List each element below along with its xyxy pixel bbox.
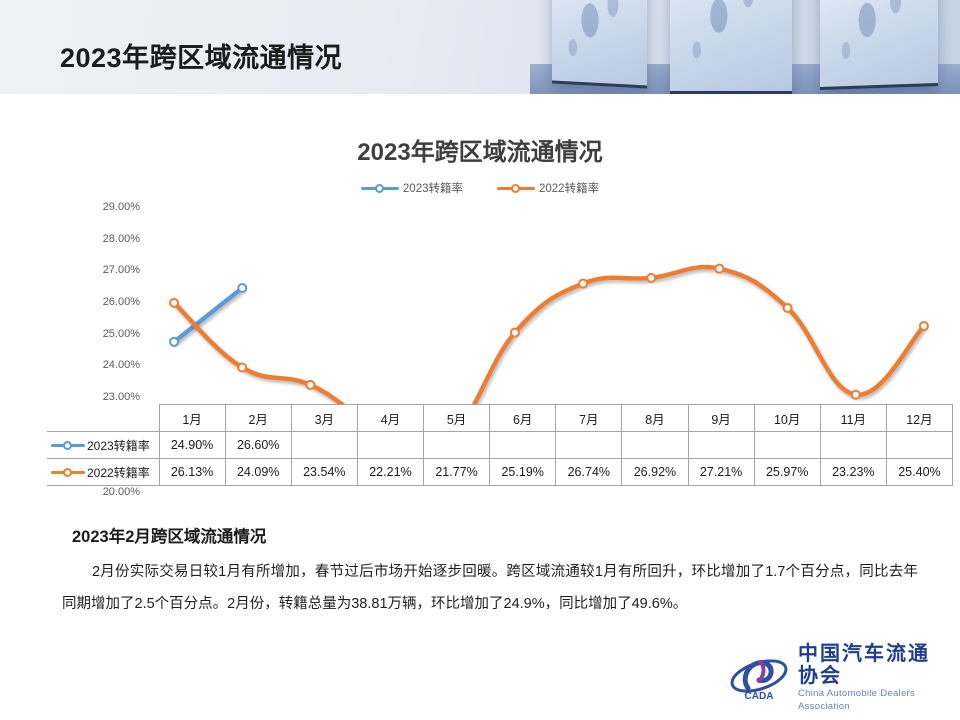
table-header-row: 1月2月3月4月5月6月7月8月9月10月11月12月	[47, 405, 953, 432]
table-cell	[688, 432, 754, 459]
cada-logo: CADA 中国汽车流通协会 China Automobile Dealers A…	[728, 650, 944, 706]
data-point-marker[interactable]	[170, 338, 178, 346]
table-cell: 26.74%	[556, 459, 622, 486]
table-corner-cell	[47, 405, 159, 432]
table-column-header: 2月	[225, 405, 291, 432]
y-tick-label: 26.00%	[86, 296, 140, 308]
commentary-body: 2月份实际交易日较1月有所增加，春节过后市场开始逐步回暖。跨区域流通较1月有所回…	[62, 556, 918, 620]
commentary-title: 2023年2月跨区域流通情况	[72, 523, 266, 547]
table-row-label: 2022转籍率	[87, 464, 150, 481]
chart-legend: 2023转籍率 2022转籍率	[0, 180, 960, 196]
table-cell: 26.13%	[159, 459, 225, 486]
table-row: 2022转籍率26.13%24.09%23.54%22.21%21.77%25.…	[47, 459, 953, 486]
data-point-marker[interactable]	[238, 284, 246, 292]
table-cell: 21.77%	[424, 459, 490, 486]
legend-line-marker-icon	[497, 183, 535, 193]
world-map-texture	[552, 0, 647, 85]
y-tick-label: 23.00%	[86, 391, 140, 403]
table-cell	[754, 432, 820, 459]
decorative-cube-3	[820, 0, 938, 90]
table-cell	[886, 432, 952, 459]
legend-item-2023[interactable]: 2023转籍率	[361, 180, 463, 196]
legend-line-marker-icon	[361, 183, 399, 193]
legend-label: 2023转籍率	[403, 180, 463, 196]
table-column-header: 1月	[159, 405, 225, 432]
legend-label: 2022转籍率	[539, 180, 599, 196]
data-point-marker[interactable]	[306, 381, 314, 389]
y-tick-label: 20.00%	[86, 486, 140, 498]
data-point-marker[interactable]	[852, 391, 860, 399]
table-cell: 22.21%	[357, 459, 423, 486]
data-point-marker[interactable]	[784, 304, 792, 312]
cada-logo-mark-icon: CADA	[728, 654, 790, 702]
table-cell	[556, 432, 622, 459]
table-cell	[424, 432, 490, 459]
logo-name-cn: 中国汽车流通协会	[798, 643, 944, 687]
legend-item-2022[interactable]: 2022转籍率	[497, 180, 599, 196]
table-cell: 25.19%	[490, 459, 556, 486]
page-title: 2023年跨区域流通情况	[60, 36, 342, 75]
data-point-marker[interactable]	[170, 299, 178, 307]
table-column-header: 5月	[424, 405, 490, 432]
table-cell	[622, 432, 688, 459]
table-head: 1月2月3月4月5月6月7月8月9月10月11月12月	[47, 405, 953, 432]
data-table: 1月2月3月4月5月6月7月8月9月10月11月12月 2023转籍率24.90…	[47, 404, 953, 486]
table-row-header: 2022转籍率	[47, 459, 159, 486]
y-tick-label: 25.00%	[86, 328, 140, 340]
table-cell: 23.23%	[820, 459, 886, 486]
data-point-marker[interactable]	[920, 322, 928, 330]
world-map-texture	[820, 0, 938, 87]
table-body: 2023转籍率24.90%26.60%2022转籍率26.13%24.09%23…	[47, 432, 953, 486]
data-point-marker[interactable]	[647, 274, 655, 282]
y-tick-label: 27.00%	[86, 264, 140, 276]
table-cell: 23.54%	[291, 459, 357, 486]
slide-root: 2023年跨区域流通情况 2023年跨区域流通情况 2023转籍率 2022转籍…	[0, 0, 960, 720]
table-cell: 24.90%	[159, 432, 225, 459]
table-cell	[820, 432, 886, 459]
table-column-header: 6月	[490, 405, 556, 432]
y-tick-label: 29.00%	[86, 201, 140, 213]
table-cell	[490, 432, 556, 459]
table-column-header: 7月	[556, 405, 622, 432]
table-row: 2023转籍率24.90%26.60%	[47, 432, 953, 459]
logo-name-en: China Automobile Dealers Association	[798, 687, 944, 713]
y-tick-label: 28.00%	[86, 233, 140, 245]
decorative-cube-1	[552, 0, 647, 88]
table-column-header: 8月	[622, 405, 688, 432]
data-point-marker[interactable]	[238, 363, 246, 371]
data-point-marker[interactable]	[511, 329, 519, 337]
table-row-header: 2023转籍率	[47, 432, 159, 459]
y-tick-label: 24.00%	[86, 359, 140, 371]
cada-logo-text: 中国汽车流通协会 China Automobile Dealers Associ…	[798, 643, 944, 713]
data-point-marker[interactable]	[715, 265, 723, 273]
table-cell	[357, 432, 423, 459]
table-column-header: 3月	[291, 405, 357, 432]
table-cell: 25.40%	[886, 459, 952, 486]
chart-title: 2023年跨区域流通情况	[0, 132, 960, 167]
table-cell: 24.09%	[225, 459, 291, 486]
table-cell: 26.60%	[225, 432, 291, 459]
data-point-marker[interactable]	[579, 280, 587, 288]
world-map-texture	[670, 0, 792, 91]
table-cell	[291, 432, 357, 459]
svg-text:CADA: CADA	[745, 691, 774, 702]
series-line-marker-icon	[51, 440, 85, 450]
series-line-marker-icon	[51, 467, 85, 477]
table-column-header: 9月	[688, 405, 754, 432]
table-cell: 25.97%	[754, 459, 820, 486]
decorative-cube-2	[670, 0, 792, 94]
table-column-header: 10月	[754, 405, 820, 432]
table-column-header: 12月	[886, 405, 952, 432]
table-cell: 27.21%	[688, 459, 754, 486]
table-row-label: 2023转籍率	[87, 437, 150, 454]
table-column-header: 11月	[820, 405, 886, 432]
table-cell: 26.92%	[622, 459, 688, 486]
table-column-header: 4月	[357, 405, 423, 432]
header-decoration-cubes	[530, 0, 960, 94]
